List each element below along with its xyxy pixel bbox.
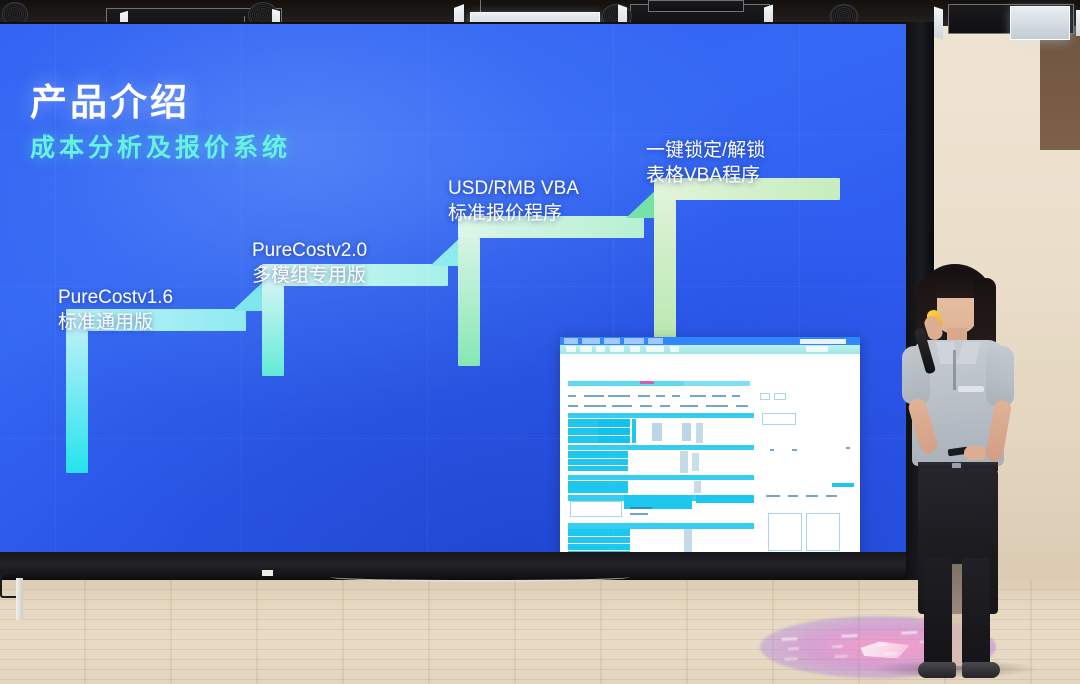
sheet-data-cell — [696, 495, 754, 503]
presenter-shirt-placket — [953, 350, 956, 390]
ribbon-tab — [582, 338, 600, 344]
presenter — [890, 258, 1026, 684]
ribbon-button — [630, 346, 640, 352]
sheet-table-header — [568, 475, 754, 480]
ribbon-button — [566, 346, 576, 352]
slide-title: 产品介绍 — [30, 72, 190, 126]
sheet-text — [612, 405, 632, 407]
sheet-table-header — [568, 445, 754, 450]
ribbon-button — [580, 346, 592, 352]
sheet-row-divider — [568, 536, 630, 537]
sheet-data-cell — [598, 419, 630, 443]
presenter-hand-right — [964, 446, 986, 460]
sheet-text — [680, 405, 698, 407]
step-1-label-line2: 标准通用版 — [58, 312, 153, 333]
sheet-row-divider — [568, 435, 630, 436]
presenter-shoe-right — [962, 662, 1000, 678]
light-blade — [1076, 10, 1080, 36]
sheet-text — [806, 495, 818, 497]
ceiling-panel — [648, 0, 744, 12]
step-1-leg — [66, 331, 88, 473]
sheet-text — [736, 405, 748, 407]
sheet-text — [770, 449, 774, 451]
sheet-row-divider — [568, 543, 630, 544]
floor-object — [262, 570, 273, 576]
ribbon-button — [610, 346, 624, 352]
equipment-stand — [16, 578, 23, 620]
sheet-text — [690, 395, 706, 397]
sheet-text — [766, 495, 780, 497]
sheet-text — [630, 507, 652, 509]
ceiling-wire — [480, 0, 481, 12]
sheet-side-box — [762, 413, 796, 425]
ribbon-tab — [624, 338, 644, 344]
sheet-text — [584, 395, 604, 397]
presenter-leg-left — [924, 558, 952, 666]
step-2-label-line2: 多模组专用版 — [252, 265, 366, 286]
sheet-text — [684, 529, 692, 552]
sheet-cell-box — [570, 501, 622, 517]
sheet-data-cell — [568, 529, 630, 552]
sheet-text — [608, 395, 630, 397]
presentation-photo-scene: 产品介绍 成本分析及报价系统 PureCostv1.6 标准通用版 PureCo… — [0, 0, 1080, 684]
sheet-text — [846, 447, 850, 449]
sheet-side-button — [760, 393, 770, 400]
step-1-label: PureCostv1.6 标准通用版 — [58, 285, 173, 335]
sheet-side-box — [768, 513, 802, 551]
ceiling-light-fixture — [1010, 6, 1070, 40]
sheet-text — [826, 495, 837, 497]
step-4-label-line2: 表格VBA程序 — [646, 165, 760, 186]
presenter-leg-right — [962, 558, 990, 666]
presenter-shirt-logo — [958, 386, 984, 392]
sheet-data-cell — [568, 481, 628, 493]
sheet-text — [696, 423, 703, 443]
sheet-row-divider — [568, 427, 630, 428]
step-4-leg — [654, 200, 676, 344]
sheet-row-divider — [568, 458, 628, 459]
sheet-text — [792, 449, 797, 451]
sheet-text — [630, 513, 648, 515]
presenter-sleeve-right — [986, 346, 1014, 406]
step-2-label-line1: PureCostv2.0 — [252, 240, 367, 261]
sheet-row-divider — [568, 550, 630, 551]
step-4-label: 一键锁定/解锁 表格VBA程序 — [646, 138, 765, 188]
ribbon-button — [596, 346, 605, 352]
ribbon-button — [670, 346, 679, 352]
light-blade — [934, 7, 943, 40]
sheet-text — [694, 481, 701, 493]
sheet-row-divider — [568, 465, 628, 466]
sheet-text — [788, 495, 798, 497]
sheet-marker — [640, 381, 654, 384]
ribbon-button — [806, 346, 828, 352]
sheet-text — [682, 423, 691, 441]
sheet-data-cell — [568, 451, 628, 471]
step-2-label: PureCostv2.0 多模组专用版 — [252, 238, 367, 288]
sheet-text — [584, 405, 606, 407]
sheet-side-box — [806, 513, 840, 551]
sheet-text — [656, 395, 665, 397]
step-3-label-line2: 标准报价程序 — [448, 203, 562, 224]
floor-cable — [330, 572, 630, 582]
step-1-label-line1: PureCostv1.6 — [58, 287, 173, 308]
sheet-text — [652, 423, 662, 441]
ribbon-tab — [604, 338, 620, 344]
sheet-data-cell — [832, 483, 854, 487]
step-3-label: USD/RMB VBA 标准报价程序 — [448, 176, 579, 226]
presenter-shoe-left — [918, 662, 956, 678]
sheet-text — [706, 405, 728, 407]
step-2-leg — [262, 286, 284, 376]
sheet-text — [640, 405, 652, 407]
sheet-side-button — [774, 393, 786, 400]
sheet-text — [712, 395, 726, 397]
presenter-leg-gap — [952, 564, 962, 666]
sheet-text — [680, 451, 688, 473]
sheet-text — [660, 405, 670, 407]
sheet-text — [732, 395, 740, 397]
step-3-leg — [458, 238, 480, 366]
step-3-label-line1: USD/RMB VBA — [448, 178, 579, 199]
step-4-label-line1: 一键锁定/解锁 — [646, 140, 765, 161]
sheet-text — [568, 405, 578, 407]
sheet-text — [692, 453, 699, 471]
slide-subtitle: 成本分析及报价系统 — [30, 128, 291, 164]
sheet-data-cell — [632, 419, 636, 443]
ribbon-tab — [648, 338, 663, 344]
sheet-text — [672, 395, 680, 397]
sheet-table-header — [568, 413, 754, 418]
led-screen: 产品介绍 成本分析及报价系统 PureCostv1.6 标准通用版 PureCo… — [0, 24, 930, 552]
sheet-header-bar — [684, 381, 750, 386]
equipment-stand-base — [0, 572, 16, 598]
embedded-spreadsheet-screenshot — [560, 337, 860, 552]
ribbon-button — [646, 346, 664, 352]
ribbon-tab — [564, 338, 578, 344]
sheet-text — [568, 395, 576, 397]
sheet-text — [638, 395, 650, 397]
titlebar-filename — [800, 339, 846, 344]
